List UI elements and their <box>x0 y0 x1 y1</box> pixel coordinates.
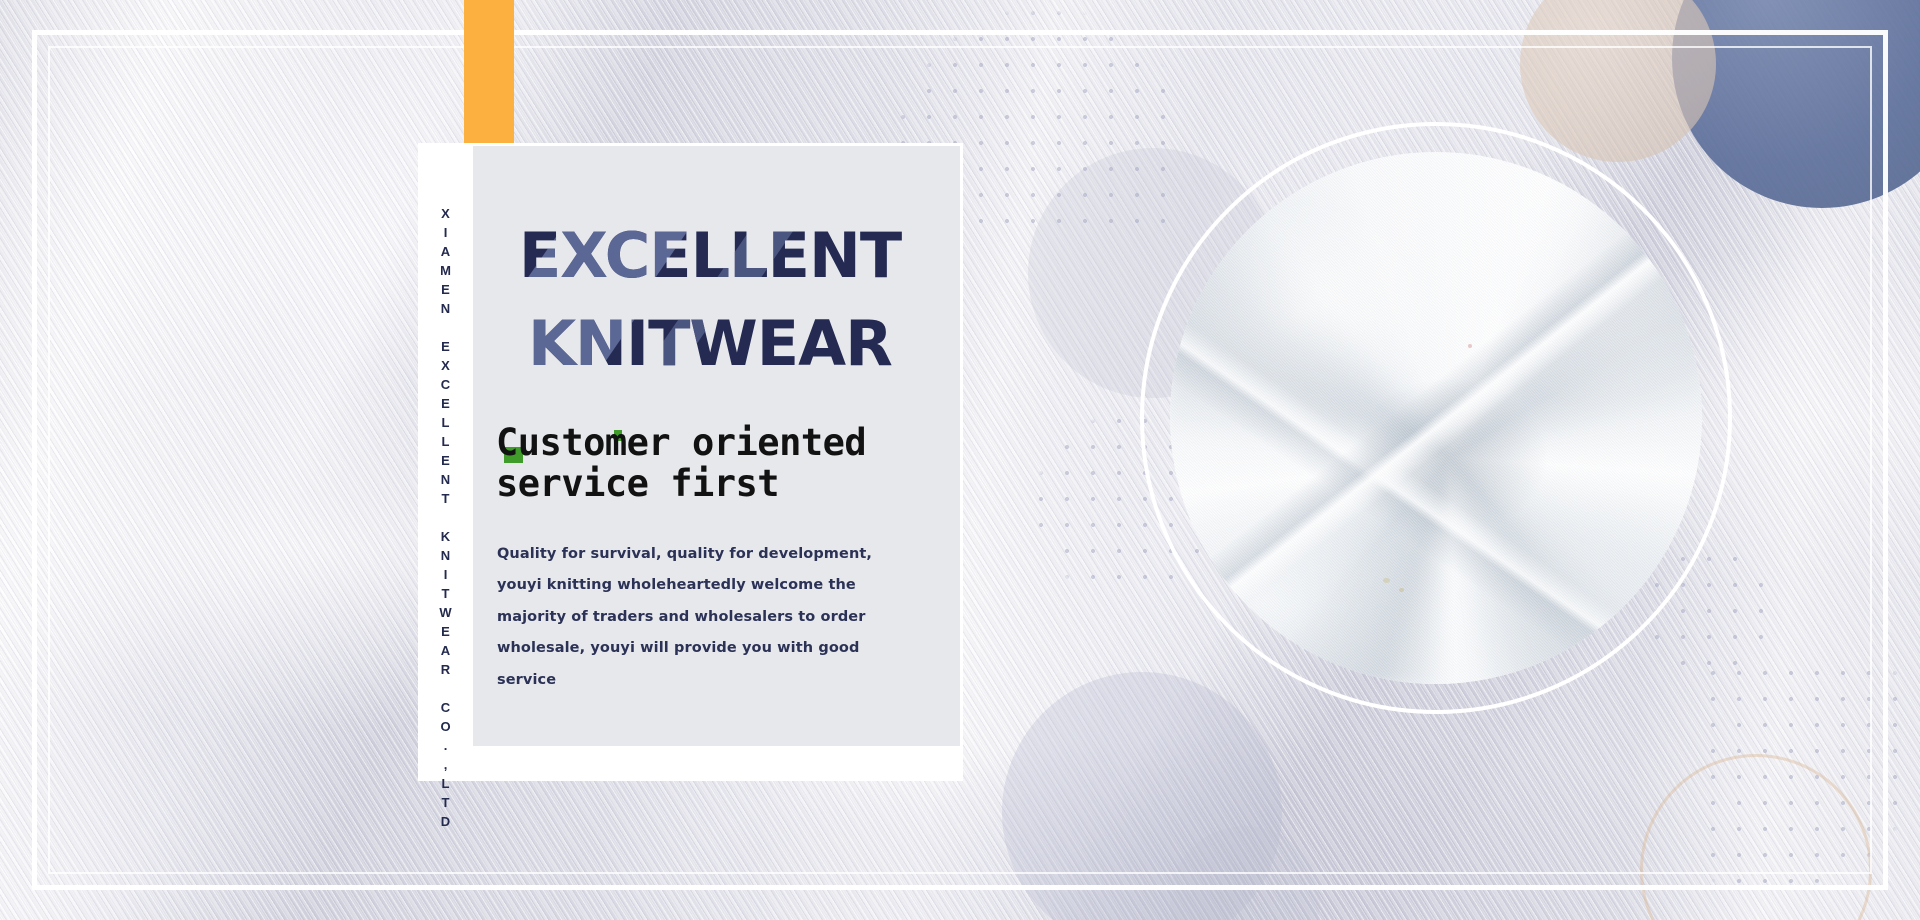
subheading-line-1: Customer oriented <box>496 422 930 463</box>
promotional-banner: XIAMEN EXCELLENT KNITWEAR CO.,LTD EXCELL… <box>0 0 1920 920</box>
headline-line-1: EXCELLENT EXCELLENT EXCELLENT <box>490 224 930 288</box>
company-name-vertical: XIAMEN EXCELLENT KNITWEAR CO.,LTD <box>418 143 473 781</box>
headline-line-2: KNITWEAR KNITWEAR KNITWEAR <box>490 312 930 376</box>
company-name-text: XIAMEN EXCELLENT KNITWEAR CO.,LTD <box>438 206 453 833</box>
page-title: EXCELLENT EXCELLENT EXCELLENT <box>490 224 930 288</box>
subheading: Customer oriented service first <box>490 422 930 505</box>
card-content: EXCELLENT EXCELLENT EXCELLENT KNITWEAR K… <box>473 146 960 746</box>
page-title-secondary: KNITWEAR KNITWEAR KNITWEAR <box>490 312 930 376</box>
body-paragraph: Quality for survival, quality for develo… <box>490 539 930 697</box>
product-photo-ring-outline <box>1140 122 1732 714</box>
subheading-line-2: service first <box>496 463 930 504</box>
